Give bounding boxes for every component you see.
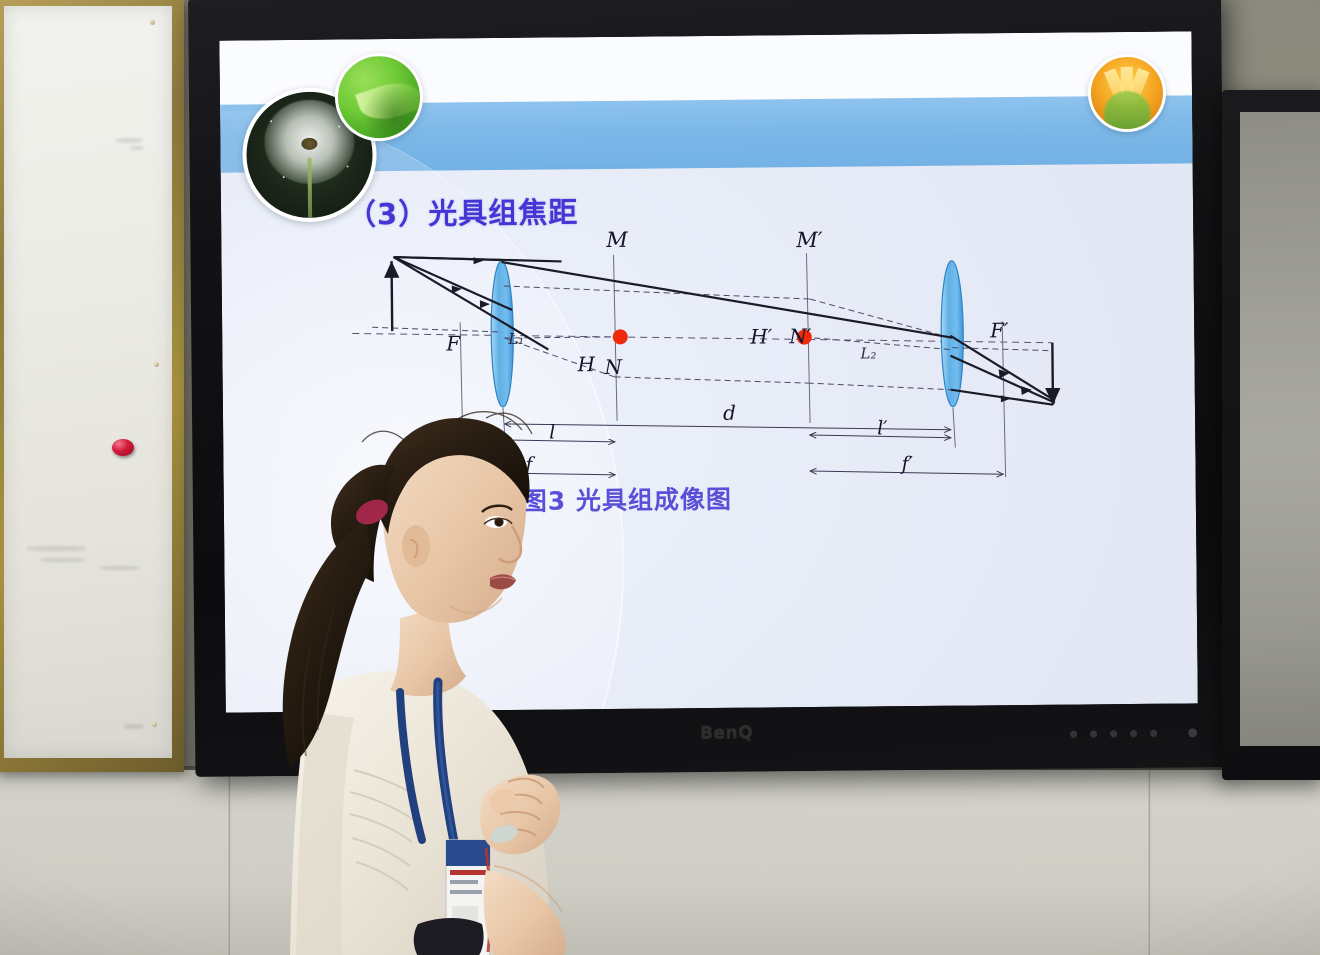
dandelion-stem — [308, 157, 313, 217]
sunrise-field — [1104, 91, 1150, 133]
teacher-ear — [402, 525, 430, 567]
label-L1: L₁ — [507, 330, 524, 348]
frame-screw — [150, 20, 155, 25]
frame-screw — [152, 722, 157, 727]
label-N-prime: N′ — [788, 324, 812, 348]
enter-button[interactable] — [1130, 730, 1137, 737]
label-N: N — [603, 355, 623, 379]
label-M-prime: M′ — [795, 228, 823, 252]
label-F: F — [445, 331, 461, 355]
label-L2: L₂ — [859, 344, 876, 362]
bezel-highlight — [188, 0, 1221, 1]
classroom-scene: （3）光具组焦距 — [0, 0, 1320, 955]
whiteboard-smudge — [100, 566, 140, 570]
whiteboard-magnet[interactable] — [112, 439, 134, 456]
green-leaf-icon — [335, 53, 424, 142]
whiteboard-smudge — [130, 146, 144, 150]
exit-button[interactable] — [1150, 730, 1157, 737]
secondary-board-surface[interactable] — [1240, 112, 1320, 746]
label-H: H — [576, 352, 595, 376]
whiteboard-smudge — [40, 558, 86, 562]
wall-seam — [1148, 770, 1151, 955]
label-d: d — [723, 401, 736, 425]
power-button[interactable] — [1188, 728, 1197, 737]
label-F-prime: F′ — [989, 318, 1009, 342]
menu-button[interactable] — [1070, 730, 1077, 737]
plus-button[interactable] — [1110, 730, 1117, 737]
frame-screw — [154, 362, 159, 367]
whiteboard-smudge — [124, 724, 144, 729]
handheld-device — [414, 918, 484, 955]
wall-seam — [228, 770, 231, 955]
sunrise-icon — [1088, 54, 1167, 133]
whiteboard-smudge — [26, 546, 86, 551]
label-H-prime: H′ — [749, 324, 773, 348]
whiteboard-smudge — [116, 138, 142, 143]
display-control-buttons[interactable] — [1070, 728, 1197, 738]
label-f-prime: f′ — [899, 453, 913, 475]
label-M: M — [605, 228, 628, 252]
leaf-shadow — [362, 84, 424, 142]
benq-logo: BenQ — [700, 723, 753, 744]
secondary-board[interactable] — [1222, 90, 1320, 780]
minus-button[interactable] — [1090, 730, 1097, 737]
dandelion-core — [301, 137, 317, 149]
whiteboard-surface[interactable] — [4, 6, 172, 758]
wall-whiteboard[interactable] — [0, 0, 184, 772]
label-l-prime: l′ — [877, 417, 888, 439]
wall-wainscot — [0, 770, 1320, 955]
presenting-teacher: 7 — [250, 400, 610, 955]
